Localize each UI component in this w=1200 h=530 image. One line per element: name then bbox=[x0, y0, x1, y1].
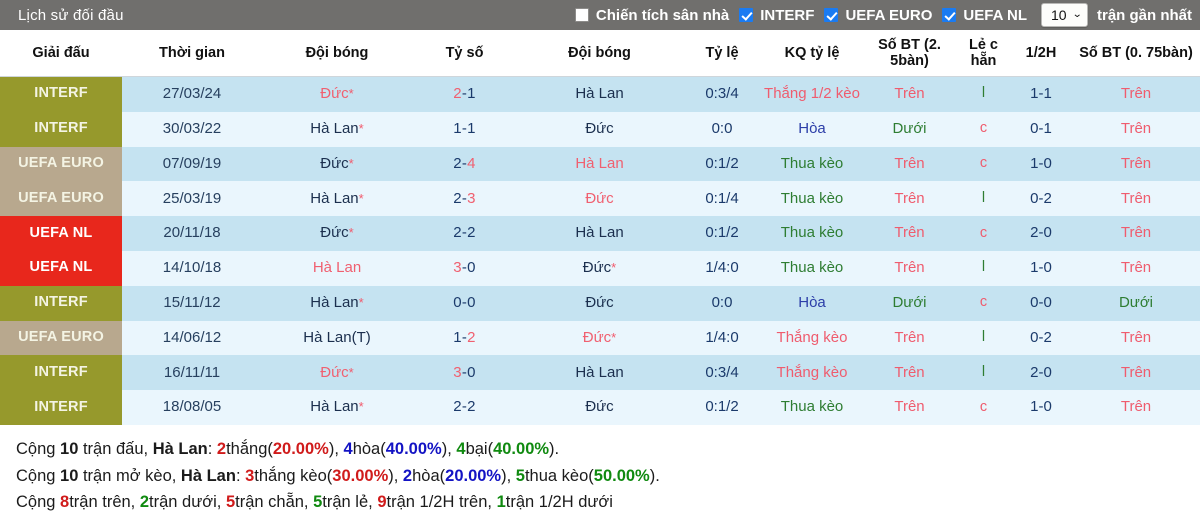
cell-handicap-result: Thua kèo bbox=[762, 181, 862, 216]
cell-over-under-075: Trên bbox=[1072, 251, 1200, 286]
match-count-label: trận gần nhất bbox=[1097, 7, 1192, 24]
summary2-win-pct: 30.00% bbox=[332, 467, 388, 485]
match-count-select[interactable]: 10 ⌄ bbox=[1041, 3, 1088, 27]
cell-home-team[interactable]: Hà Lan* bbox=[262, 112, 412, 147]
filter-uefa-nl[interactable]: UEFA NL bbox=[942, 7, 1027, 24]
summary-prefix: Cộng bbox=[16, 440, 60, 458]
summary3-over-word: trận trên, bbox=[69, 493, 140, 511]
cell-half-time-score: 0-2 bbox=[1010, 321, 1072, 356]
filter-label-uefa-euro: UEFA EURO bbox=[845, 7, 932, 24]
cell-over-under-075: Dưới bbox=[1072, 286, 1200, 321]
col-header-kq[interactable]: KQ tỷ lệ bbox=[762, 30, 862, 77]
cell-home-team[interactable]: Đức* bbox=[262, 147, 412, 182]
cell-away-team[interactable]: Đức* bbox=[517, 251, 682, 286]
cell-half-time-score: 0-1 bbox=[1010, 112, 1072, 147]
cell-date: 20/11/18 bbox=[122, 216, 262, 251]
summary-end-1: ). bbox=[549, 440, 559, 458]
cell-half-time-score: 1-0 bbox=[1010, 390, 1072, 425]
cell-odds: 0:1/2 bbox=[682, 216, 762, 251]
cell-half-time-score: 2-0 bbox=[1010, 355, 1072, 390]
summary3-under-word: trận dưới, bbox=[149, 493, 226, 511]
checkbox-home-record[interactable] bbox=[575, 8, 589, 22]
cell-over-under-075: Trên bbox=[1072, 216, 1200, 251]
summary3-odd-count: 5 bbox=[313, 493, 322, 511]
table-row[interactable]: INTERF18/08/05Hà Lan*2-2Đức0:1/2Thua kèo… bbox=[0, 390, 1200, 425]
cell-odds: 0:0 bbox=[682, 112, 762, 147]
cell-odd-even: c bbox=[957, 390, 1010, 425]
cell-home-team[interactable]: Hà Lan* bbox=[262, 181, 412, 216]
cell-league[interactable]: UEFA EURO bbox=[0, 181, 122, 216]
summary3-halfover-count: 9 bbox=[377, 493, 386, 511]
cell-odd-even: l bbox=[957, 77, 1010, 112]
cell-away-team[interactable]: Hà Lan bbox=[517, 77, 682, 112]
cell-odd-even: c bbox=[957, 216, 1010, 251]
cell-away-team[interactable]: Hà Lan bbox=[517, 355, 682, 390]
cell-over-under-075: Trên bbox=[1072, 355, 1200, 390]
cell-odd-even: l bbox=[957, 321, 1010, 356]
summary-draw-count: 4 bbox=[344, 440, 353, 458]
cell-away-team[interactable]: Đức bbox=[517, 112, 682, 147]
cell-home-team[interactable]: Hà Lan* bbox=[262, 286, 412, 321]
summary-loss-pct: 40.00% bbox=[493, 440, 549, 458]
cell-handicap-result: Thắng kèo bbox=[762, 321, 862, 356]
cell-over-under-25: Dưới bbox=[862, 286, 957, 321]
summary-line-totals: Cộng 8trận trên, 2trận dưới, 5trận chẵn,… bbox=[16, 489, 1184, 516]
table-row[interactable]: INTERF27/03/24Đức*2-1Hà Lan0:3/4Thắng 1/… bbox=[0, 77, 1200, 112]
table-row[interactable]: UEFA EURO14/06/12Hà Lan(T)1-2Đức*1/4:0Th… bbox=[0, 321, 1200, 356]
summary-line-handicap: Cộng 10 trận mở kèo, Hà Lan: 3thắng kèo(… bbox=[16, 463, 1184, 490]
summary-win-count: 2 bbox=[217, 440, 226, 458]
cell-score: 2-3 bbox=[412, 181, 517, 216]
filter-home-record[interactable]: Chiến tích sân nhà bbox=[575, 7, 729, 24]
header-controls: Chiến tích sân nhà INTERF UEFA EURO UEFA… bbox=[575, 3, 1192, 27]
col-header-half[interactable]: 1/2H bbox=[1010, 30, 1072, 77]
summary2-win-count: 3 bbox=[245, 467, 254, 485]
checkbox-uefa-euro[interactable] bbox=[824, 8, 838, 22]
col-header-score[interactable]: Tỷ số bbox=[412, 30, 517, 77]
cell-league[interactable]: INTERF bbox=[0, 286, 122, 321]
cell-home-team[interactable]: Đức* bbox=[262, 355, 412, 390]
cell-league[interactable]: UEFA NL bbox=[0, 251, 122, 286]
cell-date: 25/03/19 bbox=[122, 181, 262, 216]
table-body: INTERF27/03/24Đức*2-1Hà Lan0:3/4Thắng 1/… bbox=[0, 77, 1200, 425]
cell-odd-even: l bbox=[957, 251, 1010, 286]
summary2-loss-pct: 50.00% bbox=[594, 467, 650, 485]
summary-team: Hà Lan bbox=[153, 440, 208, 458]
cell-home-team[interactable]: Đức* bbox=[262, 216, 412, 251]
summary2-loss-count: 5 bbox=[516, 467, 525, 485]
filter-label-interf: INTERF bbox=[760, 7, 814, 24]
cell-league[interactable]: UEFA EURO bbox=[0, 147, 122, 182]
page-title: Lịch sử đối đầu bbox=[18, 7, 124, 24]
cell-home-team[interactable]: Hà Lan bbox=[262, 251, 412, 286]
checkbox-uefa-nl[interactable] bbox=[942, 8, 956, 22]
cell-away-team[interactable]: Đức bbox=[517, 390, 682, 425]
cell-handicap-result: Hòa bbox=[762, 286, 862, 321]
cell-odds: 0:0 bbox=[682, 286, 762, 321]
cell-league[interactable]: INTERF bbox=[0, 77, 122, 112]
summary-draw-word: hòa( bbox=[353, 440, 386, 458]
cell-over-under-075: Trên bbox=[1072, 181, 1200, 216]
filter-label-home-record: Chiến tích sân nhà bbox=[596, 7, 729, 24]
cell-odds: 0:1/4 bbox=[682, 181, 762, 216]
filter-label-uefa-nl: UEFA NL bbox=[963, 7, 1027, 24]
summary-sep-2: ), bbox=[442, 440, 457, 458]
cell-handicap-result: Thua kèo bbox=[762, 216, 862, 251]
col-header-away[interactable]: Đội bóng bbox=[517, 30, 682, 77]
table-row[interactable]: INTERF15/11/12Hà Lan*0-0Đức0:0HòaDướic0-… bbox=[0, 286, 1200, 321]
cell-half-time-score: 2-0 bbox=[1010, 216, 1072, 251]
cell-odd-even: c bbox=[957, 112, 1010, 147]
col-header-league[interactable]: Giải đấu bbox=[0, 30, 122, 77]
summary-sep-1: ), bbox=[329, 440, 344, 458]
cell-handicap-result: Thắng kèo bbox=[762, 355, 862, 390]
panel-header: Lịch sử đối đầu Chiến tích sân nhà INTER… bbox=[0, 0, 1200, 30]
cell-date: 30/03/22 bbox=[122, 112, 262, 147]
cell-league[interactable]: INTERF bbox=[0, 390, 122, 425]
cell-odds: 1/4:0 bbox=[682, 321, 762, 356]
cell-odds: 0:3/4 bbox=[682, 355, 762, 390]
cell-date: 14/06/12 bbox=[122, 321, 262, 356]
cell-half-time-score: 0-0 bbox=[1010, 286, 1072, 321]
cell-league[interactable]: INTERF bbox=[0, 355, 122, 390]
cell-score: 2-2 bbox=[412, 390, 517, 425]
cell-score: 0-0 bbox=[412, 286, 517, 321]
summary3-even-word: trận chẵn, bbox=[235, 493, 313, 511]
cell-away-team[interactable]: Hà Lan bbox=[517, 147, 682, 182]
summary-block: Cộng 10 trận đấu, Hà Lan: 2thắng(20.00%)… bbox=[0, 425, 1200, 516]
summary2-loss-word: thua kèo( bbox=[525, 467, 594, 485]
col-header-oddeven[interactable]: Lẻ c hẵn bbox=[957, 30, 1010, 77]
summary3-halfover-word: trận 1/2H trên, bbox=[387, 493, 497, 511]
cell-over-under-25: Trên bbox=[862, 390, 957, 425]
col-header-ou25[interactable]: Số BT (2. 5bàn) bbox=[862, 30, 957, 77]
cell-handicap-result: Thắng 1/2 kèo bbox=[762, 77, 862, 112]
col-header-ou075[interactable]: Số BT (0. 75bàn) bbox=[1072, 30, 1200, 77]
cell-odds: 0:1/2 bbox=[682, 390, 762, 425]
table-row[interactable]: UEFA NL20/11/18Đức*2-2Hà Lan0:1/2Thua kè… bbox=[0, 216, 1200, 251]
cell-away-team[interactable]: Đức bbox=[517, 181, 682, 216]
summary-win-pct: 20.00% bbox=[273, 440, 329, 458]
summary3-odd-word: trận lẻ, bbox=[322, 493, 377, 511]
cell-date: 15/11/12 bbox=[122, 286, 262, 321]
summary2-sep-1: ), bbox=[388, 467, 403, 485]
summary2-text: trận mở kèo, bbox=[78, 467, 181, 485]
cell-over-under-25: Trên bbox=[862, 251, 957, 286]
table-row[interactable]: UEFA EURO07/09/19Đức*2-4Hà Lan0:1/2Thua … bbox=[0, 147, 1200, 182]
summary3-halfunder-count: 1 bbox=[497, 493, 506, 511]
checkbox-interf[interactable] bbox=[739, 8, 753, 22]
cell-home-team[interactable]: Hà Lan* bbox=[262, 390, 412, 425]
cell-over-under-25: Dưới bbox=[862, 112, 957, 147]
cell-away-team[interactable]: Đức bbox=[517, 286, 682, 321]
cell-date: 07/09/19 bbox=[122, 147, 262, 182]
chevron-down-icon: ⌄ bbox=[1072, 10, 1082, 20]
summary2-draw-pct: 20.00% bbox=[445, 467, 501, 485]
table-header-row: Giải đấu Thời gian Đội bóng Tỷ số Đội bó… bbox=[0, 30, 1200, 77]
summary-win-word: thắng( bbox=[226, 440, 273, 458]
summary2-colon: : bbox=[236, 467, 245, 485]
summary2-draw-count: 2 bbox=[403, 467, 412, 485]
cell-date: 18/08/05 bbox=[122, 390, 262, 425]
cell-odd-even: l bbox=[957, 181, 1010, 216]
summary-text: trận đấu, bbox=[78, 440, 152, 458]
cell-score: 1-1 bbox=[412, 112, 517, 147]
cell-over-under-25: Trên bbox=[862, 355, 957, 390]
cell-score: 2-4 bbox=[412, 147, 517, 182]
table-row[interactable]: UEFA EURO25/03/19Hà Lan*2-3Đức0:1/4Thua … bbox=[0, 181, 1200, 216]
summary2-team: Hà Lan bbox=[181, 467, 236, 485]
cell-half-time-score: 1-1 bbox=[1010, 77, 1072, 112]
summary3-over-count: 8 bbox=[60, 493, 69, 511]
cell-over-under-25: Trên bbox=[862, 147, 957, 182]
match-count-value: 10 bbox=[1051, 7, 1067, 23]
cell-score: 3-0 bbox=[412, 251, 517, 286]
cell-score: 2-2 bbox=[412, 216, 517, 251]
cell-date: 14/10/18 bbox=[122, 251, 262, 286]
summary2-sep-2: ), bbox=[501, 467, 516, 485]
cell-over-under-075: Trên bbox=[1072, 112, 1200, 147]
cell-half-time-score: 1-0 bbox=[1010, 147, 1072, 182]
cell-over-under-25: Trên bbox=[862, 77, 957, 112]
table-row[interactable]: UEFA NL14/10/18Hà Lan3-0Đức*1/4:0Thua kè… bbox=[0, 251, 1200, 286]
cell-half-time-score: 1-0 bbox=[1010, 251, 1072, 286]
summary-loss-count: 4 bbox=[456, 440, 465, 458]
summary2-end: ). bbox=[650, 467, 660, 485]
cell-league[interactable]: INTERF bbox=[0, 112, 122, 147]
summary3-prefix: Cộng bbox=[16, 493, 60, 511]
summary3-under-count: 2 bbox=[140, 493, 149, 511]
summary-draw-pct: 40.00% bbox=[386, 440, 442, 458]
cell-over-under-075: Trên bbox=[1072, 390, 1200, 425]
summary2-draw-word: hòa( bbox=[412, 467, 445, 485]
col-header-odds[interactable]: Tỷ lệ bbox=[682, 30, 762, 77]
cell-odd-even: c bbox=[957, 147, 1010, 182]
cell-odd-even: c bbox=[957, 286, 1010, 321]
table-row[interactable]: INTERF30/03/22Hà Lan*1-1Đức0:0HòaDướic0-… bbox=[0, 112, 1200, 147]
cell-home-team[interactable]: Hà Lan(T) bbox=[262, 321, 412, 356]
cell-half-time-score: 0-2 bbox=[1010, 181, 1072, 216]
summary2-total-matches: 10 bbox=[60, 467, 78, 485]
cell-handicap-result: Thua kèo bbox=[762, 390, 862, 425]
cell-league[interactable]: UEFA EURO bbox=[0, 321, 122, 356]
cell-over-under-075: Trên bbox=[1072, 321, 1200, 356]
summary-loss-word: bại( bbox=[466, 440, 494, 458]
cell-odds: 0:3/4 bbox=[682, 77, 762, 112]
cell-over-under-075: Trên bbox=[1072, 77, 1200, 112]
head-to-head-table: Giải đấu Thời gian Đội bóng Tỷ số Đội bó… bbox=[0, 30, 1200, 425]
head-to-head-panel: Lịch sử đối đầu Chiến tích sân nhà INTER… bbox=[0, 0, 1200, 530]
cell-score: 2-1 bbox=[412, 77, 517, 112]
cell-over-under-075: Trên bbox=[1072, 147, 1200, 182]
table-row[interactable]: INTERF16/11/11Đức*3-0Hà Lan0:3/4Thắng kè… bbox=[0, 355, 1200, 390]
cell-handicap-result: Thua kèo bbox=[762, 147, 862, 182]
cell-odds: 0:1/2 bbox=[682, 147, 762, 182]
cell-handicap-result: Thua kèo bbox=[762, 251, 862, 286]
cell-away-team[interactable]: Đức* bbox=[517, 321, 682, 356]
filter-uefa-euro[interactable]: UEFA EURO bbox=[824, 7, 932, 24]
summary-total-matches: 10 bbox=[60, 440, 78, 458]
cell-away-team[interactable]: Hà Lan bbox=[517, 216, 682, 251]
cell-home-team[interactable]: Đức* bbox=[262, 77, 412, 112]
summary2-win-word: thắng kèo( bbox=[254, 467, 332, 485]
cell-over-under-25: Trên bbox=[862, 321, 957, 356]
cell-score: 1-2 bbox=[412, 321, 517, 356]
col-header-home[interactable]: Đội bóng bbox=[262, 30, 412, 77]
cell-odd-even: l bbox=[957, 355, 1010, 390]
summary-colon: : bbox=[208, 440, 217, 458]
summary3-halfunder-word: trận 1/2H dưới bbox=[506, 493, 613, 511]
cell-over-under-25: Trên bbox=[862, 216, 957, 251]
cell-score: 3-0 bbox=[412, 355, 517, 390]
summary2-prefix: Cộng bbox=[16, 467, 60, 485]
cell-date: 16/11/11 bbox=[122, 355, 262, 390]
cell-league[interactable]: UEFA NL bbox=[0, 216, 122, 251]
summary3-even-count: 5 bbox=[226, 493, 235, 511]
summary-line-matches: Cộng 10 trận đấu, Hà Lan: 2thắng(20.00%)… bbox=[16, 436, 1184, 463]
col-header-date[interactable]: Thời gian bbox=[122, 30, 262, 77]
cell-odds: 1/4:0 bbox=[682, 251, 762, 286]
filter-interf[interactable]: INTERF bbox=[739, 7, 814, 24]
cell-over-under-25: Trên bbox=[862, 181, 957, 216]
cell-handicap-result: Hòa bbox=[762, 112, 862, 147]
cell-date: 27/03/24 bbox=[122, 77, 262, 112]
